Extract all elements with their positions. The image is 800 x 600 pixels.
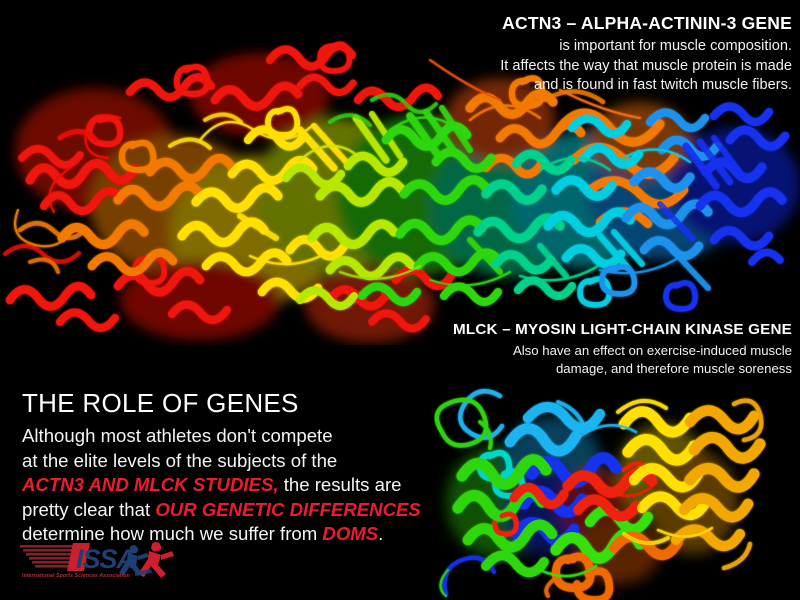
- poster-canvas: ACTN3 – ALPHA-ACTININ-3 GENE is importan…: [0, 0, 800, 600]
- logo-tagline: International Sports Sciences Associatio…: [22, 573, 130, 579]
- genes-line-3-rest: the results are: [279, 474, 402, 495]
- issa-logo-svg: ISSA International Sports Sciences Assoc…: [18, 538, 188, 586]
- genes-line-1: Although most athletes don't compete: [22, 424, 421, 449]
- actn3-line-2: It affects the way that muscle protein i…: [500, 57, 792, 77]
- accent-actn3-mlck-studies: ACTN3 AND MLCK STUDIES,: [22, 474, 279, 495]
- genes-line-3: ACTN3 AND MLCK STUDIES, the results are: [22, 473, 421, 498]
- actn3-callout: ACTN3 – ALPHA-ACTININ-3 GENE is importan…: [500, 12, 792, 96]
- accent-doms: DOMS: [322, 523, 378, 544]
- mlck-callout: MLCK – MYOSIN LIGHT-CHAIN KINASE GENE Al…: [453, 320, 792, 377]
- genes-line-2: at the elite levels of the subjects of t…: [22, 449, 421, 474]
- genes-line-4-pre: pretty clear that: [22, 499, 155, 520]
- role-of-genes-block: THE ROLE OF GENES Although most athletes…: [22, 388, 421, 547]
- actn3-line-1: is important for muscle composition.: [500, 37, 792, 57]
- genes-line-4: pretty clear that OUR GENETIC DIFFERENCE…: [22, 498, 421, 523]
- genes-line-5-post: .: [378, 523, 383, 544]
- mlck-line-2: damage, and therefore muscle soreness: [453, 360, 792, 378]
- mlck-heading: MLCK – MYOSIN LIGHT-CHAIN KINASE GENE: [453, 320, 792, 340]
- page-title: THE ROLE OF GENES: [22, 388, 421, 418]
- mlck-ribbon-svg: [428, 382, 800, 600]
- mlck-protein-figure: [428, 382, 800, 600]
- issa-logo[interactable]: ISSA International Sports Sciences Assoc…: [18, 538, 188, 586]
- actn3-heading: ACTN3 – ALPHA-ACTININ-3 GENE: [500, 12, 792, 34]
- actn3-line-3: and is found in fast twitch muscle fiber…: [500, 76, 792, 96]
- mlck-line-1: Also have an effect on exercise-induced …: [453, 342, 792, 360]
- accent-genetic-differences: OUR GENETIC DIFFERENCES: [155, 499, 421, 520]
